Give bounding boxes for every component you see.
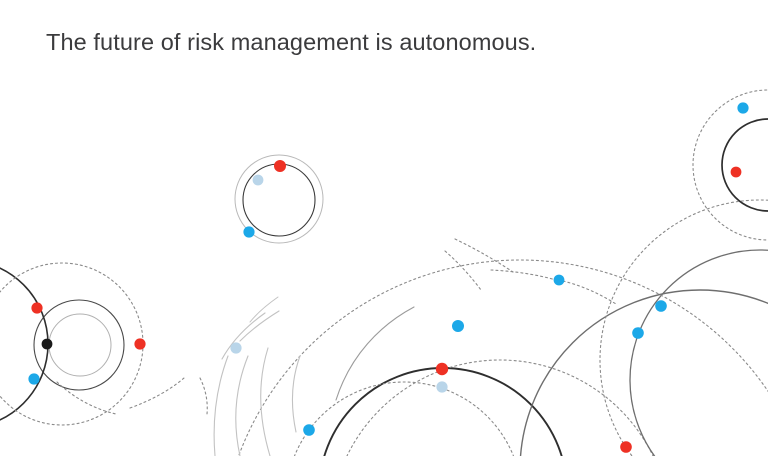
page-title: The future of risk management is autonom… [46,27,536,57]
fan-arc-2 [240,311,279,341]
left-ring-inner [49,314,111,376]
fan-arc-layer [214,297,414,456]
right-large-arc [520,290,768,456]
left-dotted-orbit [0,263,143,425]
ring-layer [0,90,768,456]
fan-arc-3 [214,356,228,456]
fan-arc-4 [236,356,248,456]
dotted-frag-bottomleft-3 [57,382,116,414]
dot-left-black [42,339,53,350]
dotted-frag-upper-3 [563,281,616,304]
right-vertical-arc [630,250,768,456]
slide-canvas: The future of risk management is autonom… [0,0,768,456]
dot-mid-ring-red [274,160,286,172]
dotted-frag-bottomleft-1 [130,378,184,408]
mid-ring-inner [243,164,315,236]
fan-arc-5 [261,348,270,456]
dotted-frag-bottomleft-2 [200,378,207,414]
dot-topright-blue [737,102,748,113]
dot-right-blue-lower [632,327,644,339]
fan-arc-1 [222,313,265,359]
fan-arc-6 [293,356,300,432]
dot-mid-ring-blue [243,226,254,237]
fan-arc-7 [250,297,278,322]
dot-left-red-orbit [134,338,145,349]
mid-ring-outer [235,155,323,243]
center-dotted-wide-arc [220,260,768,456]
dotted-frag-left-1 [445,251,481,290]
dotted-frag-upper-1 [455,239,513,272]
dotted-frag-upper-2 [491,270,556,280]
dot-right-blue-upper [655,300,667,312]
dot-topright-red [731,167,742,178]
left-big-arc [0,260,48,428]
dot-mid-ring-lightblue [253,175,264,186]
orbital-rings-artwork [0,0,768,456]
right-dotted-arc [600,200,768,456]
topright-solid-ring [722,119,768,211]
bottom-dotted-orbit-inner [286,382,522,456]
topright-dotted-orbit [693,90,768,240]
dot-layer [28,102,748,452]
bottom-dotted-orbit-outer [330,360,670,456]
dot-center-blue [452,320,464,332]
